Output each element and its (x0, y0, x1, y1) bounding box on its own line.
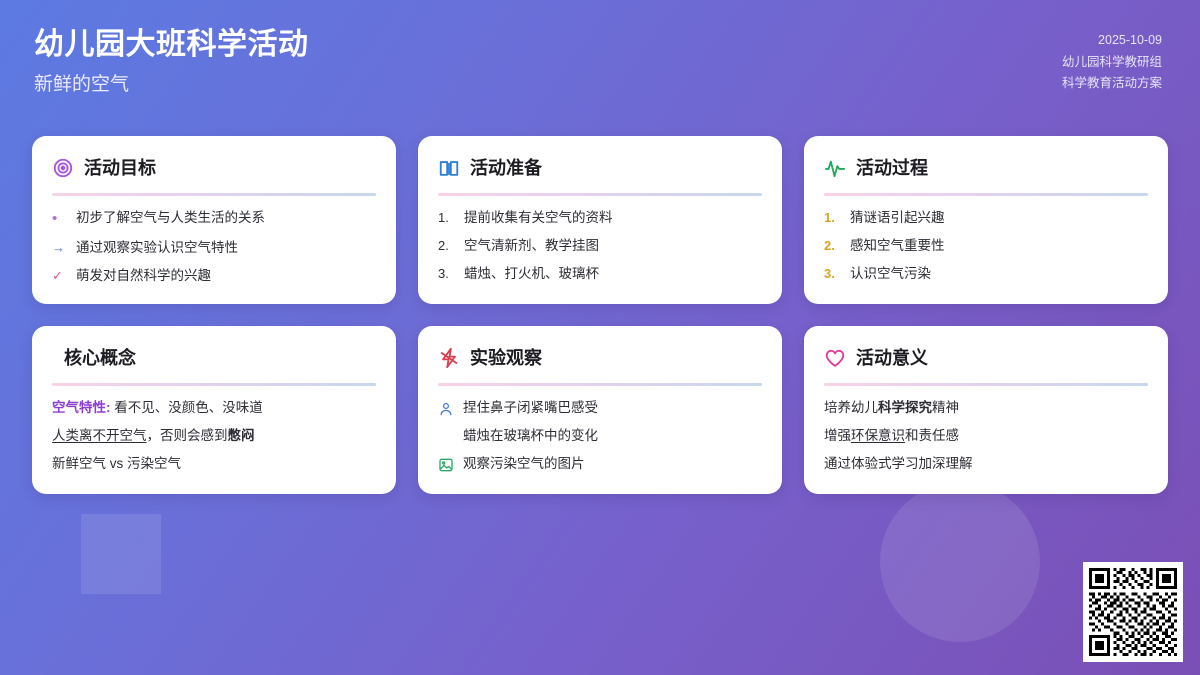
text-suffix: 和责任感 (905, 428, 959, 443)
list-item: • 初步了解空气与人类生活的关系 (52, 210, 376, 229)
text-emphasis: 环保意识 (851, 428, 905, 443)
bullet-dot-icon: • (52, 210, 67, 229)
concept-term: 空气特性: (52, 400, 111, 415)
card-activity-significance: 活动意义 培养幼儿科学探究精神 增强环保意识和责任感 通过体验式学习加深理解 (804, 326, 1168, 494)
list-item-label: 提前收集有关空气的资料 (464, 210, 762, 227)
list-number: 1. (824, 210, 841, 226)
list-item: ✓ 萌发对自然科学的兴趣 (52, 268, 376, 285)
list-item-label: 通过观察实验认识空气特性 (76, 240, 376, 257)
card-header: 活动过程 (824, 153, 1148, 183)
page-title: 幼儿园大班科学活动 (34, 26, 309, 64)
card-experiment-observation: 实验观察 捏住鼻子闭紧嘴巴感受 蜡烛在玻璃杯中的变化 (418, 326, 782, 494)
card-activity-process: 活动过程 1. 猜谜语引起兴趣 2. 感知空气重要性 3. 认识空气污染 (804, 136, 1168, 304)
card-divider (824, 193, 1148, 196)
header-meta-block: 2025-10-09 幼儿园科学教研组 科学教育活动方案 (1062, 26, 1162, 95)
list-number: 3. (824, 266, 841, 282)
list-item-label: 增强环保意识和责任感 (824, 428, 1148, 445)
list-item-label: 空气特性: 看不见、没颜色、没味道 (52, 400, 376, 417)
list-item: 培养幼儿科学探究精神 (824, 400, 1148, 417)
card-header: 实验观察 (438, 343, 762, 373)
list-number: 1. (438, 210, 455, 226)
card-divider (824, 383, 1148, 386)
list-item: 观察污染空气的图片 (438, 456, 762, 473)
list-item: 人类离不开空气，否则会感到憋闷 (52, 428, 376, 445)
list-item-label: 认识空气污染 (850, 266, 1148, 283)
slide-header: 幼儿园大班科学活动 新鲜的空气 2025-10-09 幼儿园科学教研组 科学教育… (0, 0, 1200, 118)
card-body: 1. 提前收集有关空气的资料 2. 空气清新剂、教学挂图 3. 蜡烛、打火机、玻… (438, 210, 762, 283)
list-item-label: 捏住鼻子闭紧嘴巴感受 (463, 400, 762, 417)
card-header: 核心概念 (52, 343, 376, 373)
card-header: 活动意义 (824, 343, 1148, 373)
list-item: → 通过观察实验认识空气特性 (52, 240, 376, 257)
list-item: 通过体验式学习加深理解 (824, 456, 1148, 473)
card-core-concepts: 核心概念 空气特性: 看不见、没颜色、没味道 人类离不开空气，否则会感到憋闷 新… (32, 326, 396, 494)
slide-root: 幼儿园大班科学活动 新鲜的空气 2025-10-09 幼儿园科学教研组 科学教育… (0, 0, 1200, 675)
list-item: 3. 蜡烛、打火机、玻璃杯 (438, 266, 762, 283)
card-title: 核心概念 (64, 349, 136, 367)
arrow-right-icon: → (52, 240, 67, 256)
list-item-label: 观察污染空气的图片 (463, 456, 762, 473)
header-doc-type: 科学教育活动方案 (1062, 73, 1162, 95)
list-item-label: 初步了解空气与人类生活的关系 (76, 210, 376, 227)
book-open-icon (438, 157, 460, 179)
list-item-label: 新鲜空气 vs 污染空气 (52, 456, 376, 473)
list-item: 新鲜空气 vs 污染空气 (52, 456, 376, 473)
page-subtitle: 新鲜的空气 (34, 73, 309, 97)
text-prefix: 培养幼儿 (824, 400, 878, 415)
list-item-label: 萌发对自然科学的兴趣 (76, 268, 376, 285)
list-item-label: 培养幼儿科学探究精神 (824, 400, 1148, 417)
qr-code-image (1089, 568, 1177, 656)
card-title: 活动意义 (856, 349, 928, 367)
card-header: 活动准备 (438, 153, 762, 183)
card-title: 活动目标 (84, 159, 156, 177)
text-strong: 科学探究 (878, 400, 932, 415)
qr-code[interactable] (1083, 562, 1183, 662)
cards-grid: 活动目标 • 初步了解空气与人类生活的关系 → 通过观察实验认识空气特性 ✓ 萌… (32, 136, 1168, 494)
list-item: 蜡烛在玻璃杯中的变化 (438, 428, 762, 445)
header-title-block: 幼儿园大班科学活动 新鲜的空气 (34, 26, 309, 96)
heart-icon (824, 347, 846, 369)
card-body: 培养幼儿科学探究精神 增强环保意识和责任感 通过体验式学习加深理解 (824, 400, 1148, 473)
card-body: 捏住鼻子闭紧嘴巴感受 蜡烛在玻璃杯中的变化 观察污染空气的图片 (438, 400, 762, 473)
card-activity-goals: 活动目标 • 初步了解空气与人类生活的关系 → 通过观察实验认识空气特性 ✓ 萌… (32, 136, 396, 304)
activity-pulse-icon (824, 157, 846, 179)
card-body: 1. 猜谜语引起兴趣 2. 感知空气重要性 3. 认识空气污染 (824, 210, 1148, 283)
list-number: 2. (438, 238, 455, 254)
list-item: 增强环保意识和责任感 (824, 428, 1148, 445)
list-item: 捏住鼻子闭紧嘴巴感受 (438, 400, 762, 417)
list-item-label: 感知空气重要性 (850, 238, 1148, 255)
image-icon (438, 457, 454, 473)
list-number: 3. (438, 266, 455, 282)
header-org: 幼儿园科学教研组 (1062, 52, 1162, 74)
decorative-square (81, 514, 161, 594)
concept-emphasis: 人类离不开空气 (52, 428, 147, 443)
card-header: 活动目标 (52, 153, 376, 183)
list-item-label: 蜡烛、打火机、玻璃杯 (464, 266, 762, 283)
card-title: 活动过程 (856, 159, 928, 177)
list-item: 2. 空气清新剂、教学挂图 (438, 238, 762, 255)
list-item: 1. 提前收集有关空气的资料 (438, 210, 762, 227)
card-title: 实验观察 (470, 349, 542, 367)
decorative-circle (880, 482, 1040, 642)
list-item-label: 空气清新剂、教学挂图 (464, 238, 762, 255)
list-item: 2. 感知空气重要性 (824, 238, 1148, 255)
list-item-label: 人类离不开空气，否则会感到憋闷 (52, 428, 376, 445)
card-divider (52, 193, 376, 196)
lightning-bolt-icon (438, 347, 460, 369)
card-body: 空气特性: 看不见、没颜色、没味道 人类离不开空气，否则会感到憋闷 新鲜空气 v… (52, 400, 376, 473)
header-date: 2025-10-09 (1062, 30, 1162, 52)
check-icon: ✓ (52, 268, 67, 284)
concept-middle: ，否则会感到 (147, 428, 228, 443)
concept-strong: 憋闷 (228, 428, 255, 443)
person-icon (438, 401, 454, 417)
list-item-label: 蜡烛在玻璃杯中的变化 (463, 428, 762, 445)
card-title: 活动准备 (470, 159, 542, 177)
card-activity-preparation: 活动准备 1. 提前收集有关空气的资料 2. 空气清新剂、教学挂图 3. 蜡烛、… (418, 136, 782, 304)
text-suffix: 精神 (932, 400, 959, 415)
card-divider (438, 193, 762, 196)
list-item: 3. 认识空气污染 (824, 266, 1148, 283)
concept-definition: 看不见、没颜色、没味道 (114, 400, 263, 415)
list-item: 1. 猜谜语引起兴趣 (824, 210, 1148, 227)
list-number: 2. (824, 238, 841, 254)
card-divider (438, 383, 762, 386)
target-icon (52, 157, 74, 179)
text-prefix: 增强 (824, 428, 851, 443)
list-item-label: 通过体验式学习加深理解 (824, 456, 1148, 473)
card-divider (52, 383, 376, 386)
list-item: 空气特性: 看不见、没颜色、没味道 (52, 400, 376, 417)
list-item-label: 猜谜语引起兴趣 (850, 210, 1148, 227)
card-body: • 初步了解空气与人类生活的关系 → 通过观察实验认识空气特性 ✓ 萌发对自然科… (52, 210, 376, 285)
